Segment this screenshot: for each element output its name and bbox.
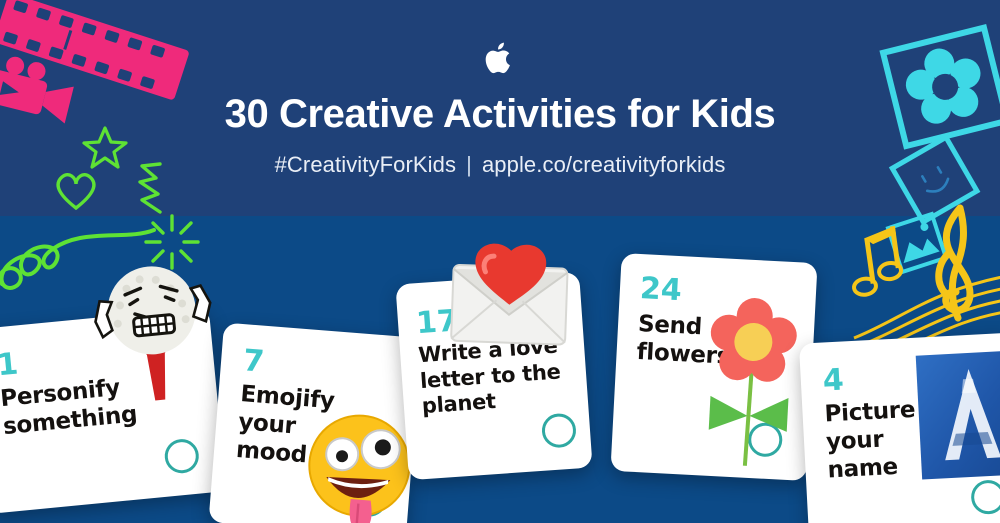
header: 30 Creative Activities for Kids #Creativ… — [0, 0, 1000, 216]
page-title: 30 Creative Activities for Kids — [225, 94, 776, 134]
activity-card-17[interactable]: 17 Write a love letter to the planet — [395, 272, 592, 480]
subtitle: #CreativityForKids|apple.co/creativityfo… — [275, 152, 726, 178]
apple-logo — [483, 38, 517, 78]
card-24-inner: 24 Send flowers — [610, 253, 817, 481]
card-17-art-love-letter-emoji — [441, 240, 578, 355]
activity-card-7[interactable]: 7 Emojify your mood — [208, 323, 421, 523]
activity-card-24[interactable]: 24 Send flowers — [610, 253, 817, 481]
card-7-art-zany-face-emoji — [300, 408, 417, 523]
card-4-inner: 4 Picture your name — [799, 332, 1000, 523]
card-4-text: Picture your name — [824, 396, 919, 485]
card-7-inner: 7 Emojify your mood — [208, 323, 421, 523]
card-24-art-flower-illustration — [695, 295, 814, 471]
card-1-art-golf-ball-face — [82, 248, 228, 432]
url-text: apple.co/creativityforkids — [482, 152, 725, 177]
card-17-checkbox-ring[interactable] — [541, 412, 577, 448]
card-7-number: 7 — [242, 346, 265, 378]
hashtag-text: #CreativityForKids — [275, 152, 457, 177]
card-4-checkbox-ring[interactable] — [970, 479, 1000, 515]
card-4-art-letter-a-photo — [916, 350, 1000, 485]
promo-banner: 30 Creative Activities for Kids #Creativ… — [0, 0, 1000, 523]
card-1-number: 1 — [0, 350, 20, 382]
subtitle-separator: | — [456, 152, 482, 177]
card-1-checkbox-ring[interactable] — [163, 438, 200, 475]
activity-card-1[interactable]: 1 Personify something — [0, 307, 226, 514]
activity-card-4[interactable]: 4 Picture your name — [799, 332, 1000, 523]
card-4-number: 4 — [822, 366, 844, 397]
card-24-number: 24 — [639, 274, 682, 306]
